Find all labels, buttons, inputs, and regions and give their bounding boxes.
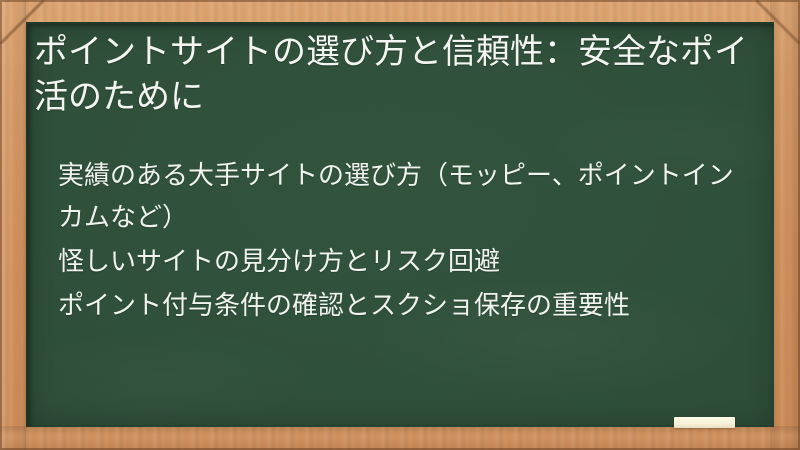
chalkboard-surface: ポイントサイトの選び方と信頼性：安全なポイ活のために 実績のある大手サイトの選び… [26, 22, 774, 427]
bullet-item: ポイント付与条件の確認とスクショ保存の重要性 [58, 284, 758, 326]
bullet-item: 怪しいサイトの見分け方とリスク回避 [58, 240, 758, 282]
frame-bottom-ledge-shading [0, 426, 800, 450]
chalk-stick-icon [674, 417, 735, 428]
slide-bullet-list: 実績のある大手サイトの選び方（モッピー、ポイントインカムなど） 怪しいサイトの見… [58, 154, 758, 328]
slide-title: ポイントサイトの選び方と信頼性：安全なポイ活のために [34, 30, 754, 120]
frame-left-shading [0, 0, 26, 450]
bullet-item: 実績のある大手サイトの選び方（モッピー、ポイントインカムなど） [58, 154, 758, 238]
chalkboard-frame: ポイントサイトの選び方と信頼性：安全なポイ活のために 実績のある大手サイトの選び… [0, 0, 800, 450]
frame-right-shading [770, 0, 800, 450]
